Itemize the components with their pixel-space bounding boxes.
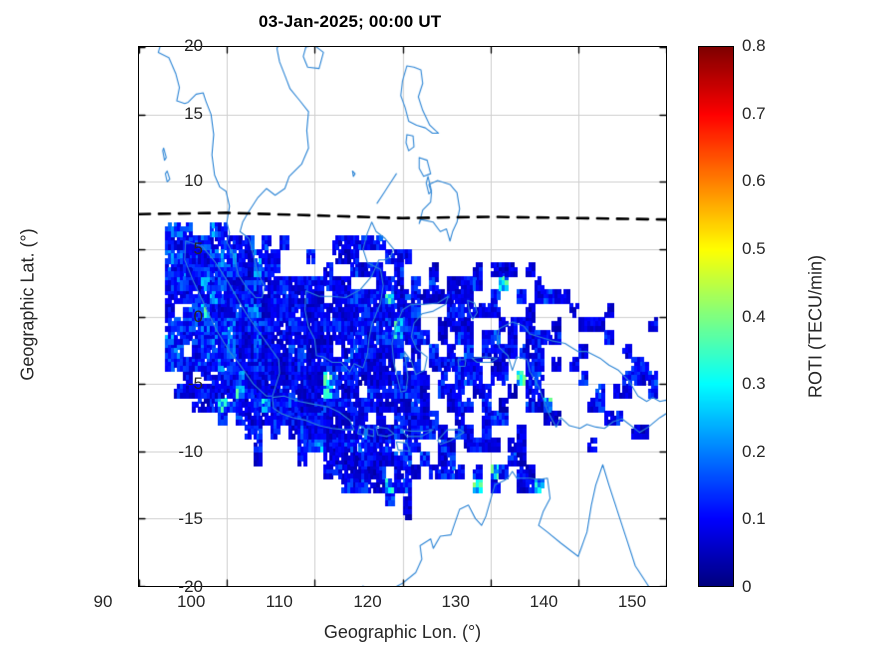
y-tick-label: 0: [123, 307, 203, 327]
x-tick-label: 120: [333, 592, 403, 612]
y-tick-label: -15: [123, 509, 203, 529]
roti-heatmap-canvas[interactable]: [139, 47, 666, 586]
y-tick-label: -10: [123, 442, 203, 462]
colorbar-label: ROTI (TECU/min): [806, 117, 827, 537]
x-tick-label: 100: [156, 592, 226, 612]
colorbar-tick-label: 0.3: [742, 374, 766, 394]
plot-title: 03-Jan-2025; 00:00 UT: [0, 12, 700, 32]
x-axis-label: Geographic Lon. (°): [138, 622, 667, 643]
x-tick-label: 110: [244, 592, 314, 612]
colorbar-tick-label: 0.7: [742, 104, 766, 124]
x-tick-label: 140: [509, 592, 579, 612]
figure-root: 03-Jan-2025; 00:00 UT 20151050-5-10-15-2…: [0, 0, 875, 656]
colorbar-tick-label: 0.2: [742, 442, 766, 462]
x-tick-label: 130: [421, 592, 491, 612]
colorbar[interactable]: [698, 46, 734, 587]
y-tick-label: 10: [123, 171, 203, 191]
y-axis-label: Geographic Lat. (°): [18, 65, 39, 545]
colorbar-tick-label: 0.1: [742, 509, 766, 529]
plot-axes[interactable]: [138, 46, 667, 587]
x-tick-label: 90: [68, 592, 138, 612]
y-tick-label: 15: [123, 104, 203, 124]
colorbar-tick-label: 0.4: [742, 307, 766, 327]
colorbar-gradient: [699, 47, 733, 586]
colorbar-tick-label: 0.8: [742, 36, 766, 56]
colorbar-tick-label: 0: [742, 577, 751, 597]
y-tick-label: 20: [123, 36, 203, 56]
colorbar-tick-label: 0.6: [742, 171, 766, 191]
y-tick-label: 5: [123, 239, 203, 259]
colorbar-tick-label: 0.5: [742, 239, 766, 259]
y-tick-label: -5: [123, 374, 203, 394]
x-tick-label: 150: [597, 592, 667, 612]
